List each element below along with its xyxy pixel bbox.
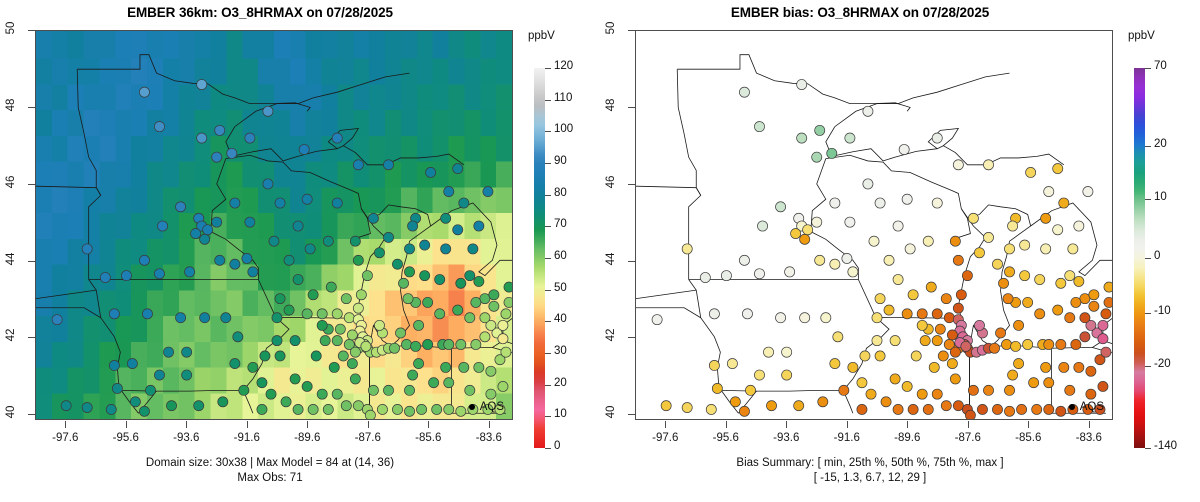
aqs-site-marker bbox=[1008, 370, 1018, 380]
colorbar-tick bbox=[545, 131, 551, 132]
aqs-site-marker bbox=[1086, 366, 1096, 376]
aqs-site-marker bbox=[1059, 198, 1069, 208]
aqs-site-marker bbox=[1020, 240, 1030, 250]
aqs-site-marker bbox=[890, 374, 900, 384]
aqs-site-marker bbox=[414, 359, 424, 369]
aqs-site-marker bbox=[797, 133, 807, 143]
map-border bbox=[636, 308, 701, 318]
aqs-site-marker bbox=[902, 381, 912, 391]
model-map-overlay bbox=[36, 31, 512, 419]
aqs-site-marker bbox=[182, 370, 192, 380]
colorbar-tick-label: 50 bbox=[554, 282, 567, 294]
aqs-site-marker bbox=[194, 401, 204, 411]
aqs-site-marker bbox=[709, 309, 719, 319]
aqs-site-marker bbox=[950, 236, 960, 246]
x-tick-label: -89.6 bbox=[277, 432, 337, 444]
aqs-site-marker bbox=[498, 334, 508, 344]
aqs-site-marker bbox=[444, 404, 454, 414]
aqs-site-marker bbox=[501, 309, 511, 319]
aqs-site-marker bbox=[974, 248, 984, 258]
y-tick bbox=[28, 261, 35, 262]
y-tick-label: 48 bbox=[5, 92, 17, 118]
colorbar-tick bbox=[1145, 313, 1151, 314]
y-tick bbox=[628, 414, 635, 415]
aqs-site-marker bbox=[881, 397, 891, 407]
plot-frame-model: AQS bbox=[35, 30, 513, 420]
aqs-site-marker bbox=[953, 160, 963, 170]
colorbar-tick bbox=[545, 321, 551, 322]
aqs-site-marker bbox=[932, 389, 942, 399]
aqs-site-marker bbox=[362, 271, 372, 281]
colorbar-tick bbox=[1145, 448, 1151, 449]
aqs-site-marker bbox=[1041, 213, 1051, 223]
x-tick-label: -95.6 bbox=[96, 432, 156, 444]
aqs-site-marker bbox=[347, 330, 357, 340]
panel-title-bias: EMBER bias: O3_8HRMAX on 07/28/2025 bbox=[600, 5, 1120, 20]
aqs-site-marker bbox=[1086, 389, 1096, 399]
aqs-site-marker bbox=[754, 122, 764, 132]
aqs-site-marker bbox=[61, 401, 71, 411]
aqs-site-marker bbox=[1041, 244, 1051, 254]
colorbar-tick-label: 90 bbox=[554, 155, 567, 167]
aqs-site-marker bbox=[200, 313, 210, 323]
aqs-site-marker bbox=[917, 309, 927, 319]
aqs-site-marker bbox=[374, 320, 384, 330]
aqs-site-marker bbox=[498, 381, 508, 391]
aqs-site-marker bbox=[902, 194, 912, 204]
aqs-site-marker bbox=[800, 234, 810, 244]
aqs-site-marker bbox=[757, 221, 767, 231]
colorbar-tick bbox=[545, 416, 551, 417]
aqs-site-marker bbox=[794, 401, 804, 411]
aqs-site-marker bbox=[459, 362, 469, 372]
aqs-site-marker bbox=[893, 404, 903, 414]
aqs-site-marker bbox=[257, 404, 267, 414]
y-tick bbox=[628, 30, 635, 31]
x-tick bbox=[726, 421, 727, 428]
aqs-site-marker bbox=[284, 305, 294, 315]
aqs-site-marker bbox=[923, 404, 933, 414]
aqs-site-marker bbox=[293, 274, 303, 284]
aqs-site-marker bbox=[709, 360, 719, 370]
y-tick-label: 40 bbox=[605, 399, 617, 425]
aqs-site-marker bbox=[902, 309, 912, 319]
y-tick-label: 46 bbox=[5, 169, 17, 195]
aqs-site-marker bbox=[941, 401, 951, 411]
aqs-site-marker bbox=[377, 404, 387, 414]
x-tick-label: -91.6 bbox=[217, 432, 277, 444]
aqs-site-marker bbox=[1044, 186, 1054, 196]
aqs-site-marker bbox=[890, 336, 900, 346]
aqs-site-marker bbox=[932, 309, 942, 319]
x-tick bbox=[307, 421, 308, 428]
map-border bbox=[121, 390, 243, 391]
aqs-site-marker bbox=[498, 320, 508, 330]
aqs-site-marker bbox=[248, 362, 258, 372]
aqs-site-marker bbox=[504, 297, 513, 307]
map-border bbox=[36, 308, 101, 318]
aqs-site-marker bbox=[263, 179, 273, 189]
aqs-site-marker bbox=[1089, 301, 1099, 311]
aqs-site-marker bbox=[800, 313, 810, 323]
aqs-site-marker bbox=[317, 309, 327, 319]
y-tick-label: 40 bbox=[5, 399, 17, 425]
colorbar-tick-label: 20 bbox=[1154, 138, 1167, 150]
aqs-site-marker bbox=[332, 336, 342, 346]
map-border bbox=[721, 390, 843, 391]
aqs-site-marker bbox=[932, 198, 942, 208]
aqs-site-marker bbox=[404, 244, 414, 254]
map-border bbox=[226, 73, 410, 156]
aqs-site-marker bbox=[818, 397, 828, 407]
aqs-site-marker bbox=[821, 313, 831, 323]
aqs-site-marker bbox=[1053, 164, 1063, 174]
colorbar-tick-label: -20 bbox=[1154, 358, 1171, 370]
aqs-site-marker bbox=[290, 374, 300, 384]
aqs-site-marker bbox=[727, 359, 737, 369]
y-tick-label: 44 bbox=[605, 246, 617, 272]
aqs-site-marker bbox=[872, 313, 882, 323]
aqs-site-marker bbox=[383, 160, 393, 170]
aqs-site-marker bbox=[965, 410, 975, 420]
aqs-site-marker bbox=[432, 404, 442, 414]
aqs-site-marker bbox=[395, 328, 405, 338]
aqs-site-marker bbox=[166, 401, 176, 411]
aqs-site-marker bbox=[947, 330, 957, 340]
aqs-site-marker bbox=[926, 282, 936, 292]
aqs-site-marker bbox=[281, 397, 291, 407]
aqs-site-marker bbox=[453, 164, 463, 174]
aqs-site-marker bbox=[456, 406, 466, 416]
aqs-site-marker bbox=[275, 198, 285, 208]
aqs-site-marker bbox=[682, 244, 692, 254]
aqs-site-marker bbox=[938, 351, 948, 361]
aqs-site-marker bbox=[1080, 313, 1090, 323]
aqs-site-marker bbox=[139, 87, 149, 97]
aqs-site-marker bbox=[863, 179, 873, 189]
aqs-site-marker bbox=[917, 320, 927, 330]
aqs-site-marker bbox=[323, 404, 333, 414]
aqs-site-marker bbox=[290, 336, 300, 346]
map-border bbox=[858, 280, 875, 318]
aqs-site-marker bbox=[791, 228, 801, 238]
aqs-site-marker bbox=[1101, 309, 1111, 319]
aqs-site-marker bbox=[435, 274, 445, 284]
aqs-site-marker bbox=[1101, 347, 1111, 357]
aqs-site-marker bbox=[305, 244, 315, 254]
aqs-site-marker bbox=[956, 290, 966, 300]
aqs-site-marker bbox=[218, 397, 228, 407]
aqs-site-marker bbox=[989, 343, 999, 353]
panel-title-model: EMBER 36km: O3_8HRMAX on 07/28/2025 bbox=[0, 5, 520, 20]
aqs-site-marker bbox=[100, 272, 110, 282]
aqs-site-marker bbox=[398, 278, 408, 288]
aqs-site-marker bbox=[248, 267, 258, 277]
aqs-site-marker bbox=[953, 255, 963, 265]
aqs-site-marker bbox=[950, 374, 960, 384]
aqs-site-marker bbox=[212, 217, 222, 227]
aqs-site-marker bbox=[465, 271, 475, 281]
aqs-site-marker bbox=[471, 297, 481, 307]
aqs-site-marker bbox=[706, 404, 716, 414]
colorbar-tick bbox=[545, 353, 551, 354]
map-border bbox=[232, 146, 464, 165]
aqs-site-marker bbox=[842, 253, 852, 263]
map-border bbox=[36, 290, 96, 298]
aqs-site-marker bbox=[200, 234, 210, 244]
x-tick bbox=[65, 421, 66, 428]
aqs-site-marker bbox=[1004, 244, 1014, 254]
colorbar-tick-label: 0 bbox=[1154, 250, 1160, 262]
aqs-site-marker bbox=[408, 370, 418, 380]
aqs-site-marker bbox=[1035, 309, 1045, 319]
aqs-site-marker bbox=[839, 385, 849, 395]
aqs-site-marker bbox=[1065, 271, 1075, 281]
aqs-site-marker bbox=[998, 278, 1008, 288]
aqs-site-marker bbox=[230, 198, 240, 208]
aqs-site-marker bbox=[257, 378, 267, 388]
aqs-site-marker bbox=[335, 324, 345, 334]
colorbar-tick bbox=[545, 385, 551, 386]
aqs-site-marker bbox=[353, 303, 363, 313]
aqs-site-marker bbox=[1068, 244, 1078, 254]
colorbar-tick bbox=[545, 226, 551, 227]
aqs-site-marker bbox=[932, 133, 942, 143]
x-tick bbox=[1089, 421, 1090, 428]
aqs-site-marker bbox=[992, 259, 1002, 269]
aqs-site-marker bbox=[857, 378, 867, 388]
aqs-site-marker bbox=[1059, 362, 1069, 372]
plot-frame-bias: AQS bbox=[635, 30, 1113, 420]
aqs-site-marker bbox=[203, 225, 213, 235]
aqs-site-marker bbox=[480, 332, 490, 342]
aqs-site-marker bbox=[866, 389, 876, 399]
aqs-site-marker bbox=[845, 133, 855, 143]
aqs-site-marker bbox=[730, 397, 740, 407]
aqs-site-marker bbox=[1071, 339, 1081, 349]
colorbar-tick-label: 30 bbox=[554, 345, 567, 357]
aqs-site-marker bbox=[453, 305, 463, 315]
x-tick-label: -93.6 bbox=[756, 432, 816, 444]
map-border bbox=[826, 73, 1010, 156]
x-tick bbox=[186, 421, 187, 428]
aqs-site-marker bbox=[1056, 278, 1066, 288]
aqs-site-marker bbox=[1098, 334, 1108, 344]
aqs-site-marker bbox=[293, 404, 303, 414]
map-border bbox=[696, 188, 700, 196]
y-tick-label: 50 bbox=[605, 15, 617, 41]
colorbar-tick bbox=[545, 290, 551, 291]
aqs-site-marker bbox=[929, 362, 939, 372]
aqs-site-marker bbox=[1004, 406, 1014, 416]
aqs-site-marker bbox=[1011, 341, 1021, 351]
aqs-site-marker bbox=[453, 225, 463, 235]
x-tick bbox=[247, 421, 248, 428]
aqs-site-marker bbox=[1104, 297, 1113, 307]
aqs-site-marker bbox=[368, 385, 378, 395]
aqs-site-marker bbox=[361, 341, 371, 351]
figure-canvas: EMBER 36km: O3_8HRMAX on 07/28/2025 AQS … bbox=[0, 0, 1200, 502]
aqs-site-marker bbox=[176, 202, 186, 212]
aqs-site-marker bbox=[347, 359, 357, 369]
aqs-site-marker bbox=[1001, 339, 1011, 349]
colorbar-tick bbox=[1145, 258, 1151, 259]
x-tick-label: -87.6 bbox=[338, 432, 398, 444]
aqs-site-marker bbox=[812, 217, 822, 227]
aqs-site-marker bbox=[845, 217, 855, 227]
aqs-site-marker bbox=[350, 236, 360, 246]
aqs-site-marker bbox=[215, 255, 225, 265]
aqs-site-marker bbox=[1003, 294, 1013, 304]
aqs-site-marker bbox=[1044, 404, 1054, 414]
aqs-site-marker bbox=[872, 336, 882, 346]
colorbar-tick-label: 40 bbox=[554, 313, 567, 325]
aqs-site-marker bbox=[480, 313, 490, 323]
aqs-site-marker bbox=[486, 366, 496, 376]
aqs-site-marker bbox=[1098, 381, 1108, 391]
aqs-site-marker bbox=[444, 186, 454, 196]
aqs-site-marker bbox=[441, 362, 451, 372]
aqs-site-marker bbox=[848, 362, 858, 372]
aqs-site-marker bbox=[245, 133, 255, 143]
aqs-site-marker bbox=[302, 309, 312, 319]
aqs-site-marker bbox=[489, 290, 499, 300]
aqs-site-marker bbox=[474, 276, 484, 286]
y-tick bbox=[28, 337, 35, 338]
aqs-site-marker bbox=[908, 290, 918, 300]
y-tick bbox=[28, 184, 35, 185]
aqs-site-marker bbox=[404, 406, 414, 416]
aqs-site-marker bbox=[420, 271, 430, 281]
aqs-site-marker bbox=[191, 228, 201, 238]
aqs-site-marker bbox=[739, 255, 749, 265]
caption-bias-line1: Bias Summary: [ min, 25th %, 50th %, 75t… bbox=[600, 457, 1140, 469]
aqs-site-marker bbox=[1014, 320, 1024, 330]
aqs-site-marker bbox=[121, 271, 131, 281]
panel-bias: EMBER bias: O3_8HRMAX on 07/28/2025 AQS … bbox=[600, 0, 1200, 502]
aqs-site-marker bbox=[869, 236, 879, 246]
aqs-site-marker bbox=[368, 213, 378, 223]
bias-map-overlay bbox=[636, 31, 1112, 419]
y-tick bbox=[28, 414, 35, 415]
aqs-site-marker bbox=[420, 240, 430, 250]
aqs-site-marker bbox=[712, 383, 722, 393]
colorbar-tick-label: 120 bbox=[554, 60, 573, 72]
aqs-site-marker bbox=[1026, 167, 1036, 177]
colorbar-tick-label: 70 bbox=[1154, 60, 1167, 72]
aqs-site-marker bbox=[860, 351, 870, 361]
aqs-site-marker bbox=[106, 404, 116, 414]
aqs-site-marker bbox=[266, 389, 276, 399]
colorbar-tick-label: 70 bbox=[554, 218, 567, 230]
aqs-site-marker bbox=[215, 125, 225, 135]
aqs-site-marker bbox=[272, 313, 282, 323]
aqs-site-marker bbox=[1044, 378, 1054, 388]
x-tick-label: -93.6 bbox=[156, 432, 216, 444]
aqs-site-marker bbox=[112, 383, 122, 393]
aqs-site-marker bbox=[923, 236, 933, 246]
aqs-site-marker bbox=[154, 370, 164, 380]
aqs-site-marker bbox=[52, 315, 62, 325]
colorbar-tick-label: 100 bbox=[554, 123, 573, 135]
aqs-site-marker bbox=[661, 401, 671, 411]
aqs-site-marker bbox=[974, 320, 984, 330]
aqs-marker-icon bbox=[1069, 404, 1075, 410]
aqs-site-marker bbox=[941, 294, 951, 304]
aqs-site-marker bbox=[908, 404, 918, 414]
aqs-site-marker bbox=[197, 79, 207, 89]
aqs-site-marker bbox=[863, 106, 873, 116]
aqs-site-marker bbox=[275, 351, 285, 361]
aqs-site-marker bbox=[317, 389, 327, 399]
aqs-site-marker bbox=[721, 271, 731, 281]
aqs-site-marker bbox=[269, 236, 279, 246]
aqs-site-marker bbox=[474, 362, 484, 372]
aqs-site-marker bbox=[401, 339, 411, 349]
aqs-site-marker bbox=[1098, 320, 1108, 330]
aqs-site-marker bbox=[1080, 332, 1090, 342]
aqs-site-marker bbox=[1065, 385, 1075, 395]
aqs-site-marker bbox=[920, 336, 930, 346]
aqs-site-marker bbox=[154, 269, 164, 279]
colorbar-tick bbox=[545, 448, 551, 449]
aqs-marker-icon bbox=[469, 404, 475, 410]
aqs-site-marker bbox=[911, 351, 921, 361]
aqs-legend-bias: AQS bbox=[1069, 401, 1104, 413]
aqs-site-marker bbox=[932, 336, 942, 346]
aqs-site-marker bbox=[968, 213, 978, 223]
map-border bbox=[258, 280, 275, 318]
aqs-site-marker bbox=[763, 347, 773, 357]
aqs-site-marker bbox=[782, 370, 792, 380]
aqs-site-marker bbox=[875, 351, 885, 361]
colorbar-tick-label: -10 bbox=[1154, 305, 1171, 317]
aqs-site-marker bbox=[456, 278, 466, 288]
aqs-site-marker bbox=[961, 341, 971, 351]
map-border bbox=[89, 280, 122, 391]
aqs-site-marker bbox=[459, 198, 469, 208]
aqs-site-marker bbox=[766, 401, 776, 411]
aqs-site-marker bbox=[182, 347, 192, 357]
aqs-site-marker bbox=[423, 297, 433, 307]
aqs-site-marker bbox=[275, 294, 285, 304]
aqs-site-marker bbox=[782, 347, 792, 357]
x-tick bbox=[907, 421, 908, 428]
aqs-site-marker bbox=[739, 406, 749, 416]
aqs-site-marker bbox=[833, 332, 843, 342]
aqs-site-marker bbox=[504, 282, 513, 292]
aqs-site-marker bbox=[968, 385, 978, 395]
aqs-site-marker bbox=[471, 339, 481, 349]
aqs-site-marker bbox=[1104, 282, 1113, 292]
aqs-site-marker bbox=[1083, 186, 1093, 196]
y-tick bbox=[28, 30, 35, 31]
aqs-site-marker bbox=[962, 271, 972, 281]
aqs-site-marker bbox=[754, 269, 764, 279]
aqs-site-marker bbox=[308, 290, 318, 300]
aqs-site-marker bbox=[320, 336, 330, 346]
aqs-site-marker bbox=[1056, 339, 1066, 349]
aqs-site-marker bbox=[163, 347, 173, 357]
aqs-site-marker bbox=[356, 290, 366, 300]
aqs-site-marker bbox=[127, 359, 137, 369]
y-tick-label: 46 bbox=[605, 169, 617, 195]
aqs-site-marker bbox=[344, 313, 354, 323]
aqs-site-marker bbox=[812, 152, 822, 162]
aqs-site-marker bbox=[272, 336, 282, 346]
aqs-site-marker bbox=[745, 385, 755, 395]
aqs-legend-label: AQS bbox=[1080, 401, 1104, 413]
